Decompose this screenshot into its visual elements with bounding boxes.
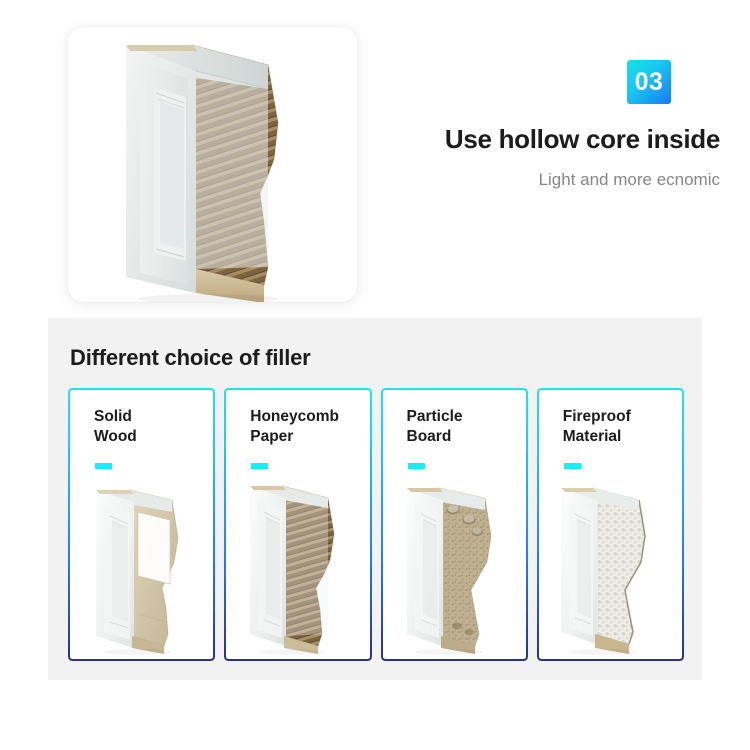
accent-dash-icon — [408, 463, 425, 469]
filler-card-title: Particle Board — [407, 407, 463, 447]
hollow-core-door-image — [68, 27, 357, 302]
filler-card-particle-board[interactable]: Particle Board — [381, 388, 528, 661]
filler-card-title-line2: Paper — [250, 427, 339, 447]
accent-dash-icon — [251, 463, 268, 469]
solid-wood-core-image — [68, 476, 215, 656]
filler-card-title-line2: Material — [563, 427, 631, 447]
filler-card-title: Fireproof Material — [563, 407, 631, 447]
filler-card-title-line2: Wood — [94, 427, 137, 447]
filler-card-title-line1: Particle — [407, 407, 463, 427]
filler-card-title: Solid Wood — [94, 407, 137, 447]
product-feature-page: 03 Use hollow core inside Light and more… — [0, 0, 750, 750]
filler-card-solid-wood[interactable]: Solid Wood — [68, 388, 215, 661]
filler-card-title-line1: Honeycomb — [250, 407, 339, 427]
filler-cards-row: Solid Wood — [68, 388, 684, 661]
hero-headline: Use hollow core inside — [420, 124, 720, 155]
filler-card-title-line1: Fireproof — [563, 407, 631, 427]
filler-card-fireproof-material[interactable]: Fireproof Material — [537, 388, 684, 661]
accent-dash-icon — [564, 463, 581, 469]
fireproof-material-core-image — [537, 476, 684, 656]
hero-subheadline: Light and more ecnomic — [420, 170, 720, 190]
hero-section: 03 Use hollow core inside Light and more… — [0, 0, 750, 318]
filler-card-title: Honeycomb Paper — [250, 407, 339, 447]
filler-panel-title: Different choice of filler — [70, 345, 311, 371]
particle-board-core-image — [381, 476, 528, 656]
filler-card-honeycomb-paper[interactable]: Honeycomb Paper — [224, 388, 371, 661]
honeycomb-paper-core-image — [224, 476, 371, 656]
filler-card-title-line1: Solid — [94, 407, 137, 427]
filler-options-panel: Different choice of filler Solid Wood — [48, 318, 702, 680]
filler-card-title-line2: Board — [407, 427, 463, 447]
accent-dash-icon — [95, 463, 112, 469]
hero-text-block: 03 Use hollow core inside Light and more… — [420, 60, 720, 190]
hero-image-card — [68, 27, 357, 302]
step-number-badge: 03 — [627, 60, 671, 104]
